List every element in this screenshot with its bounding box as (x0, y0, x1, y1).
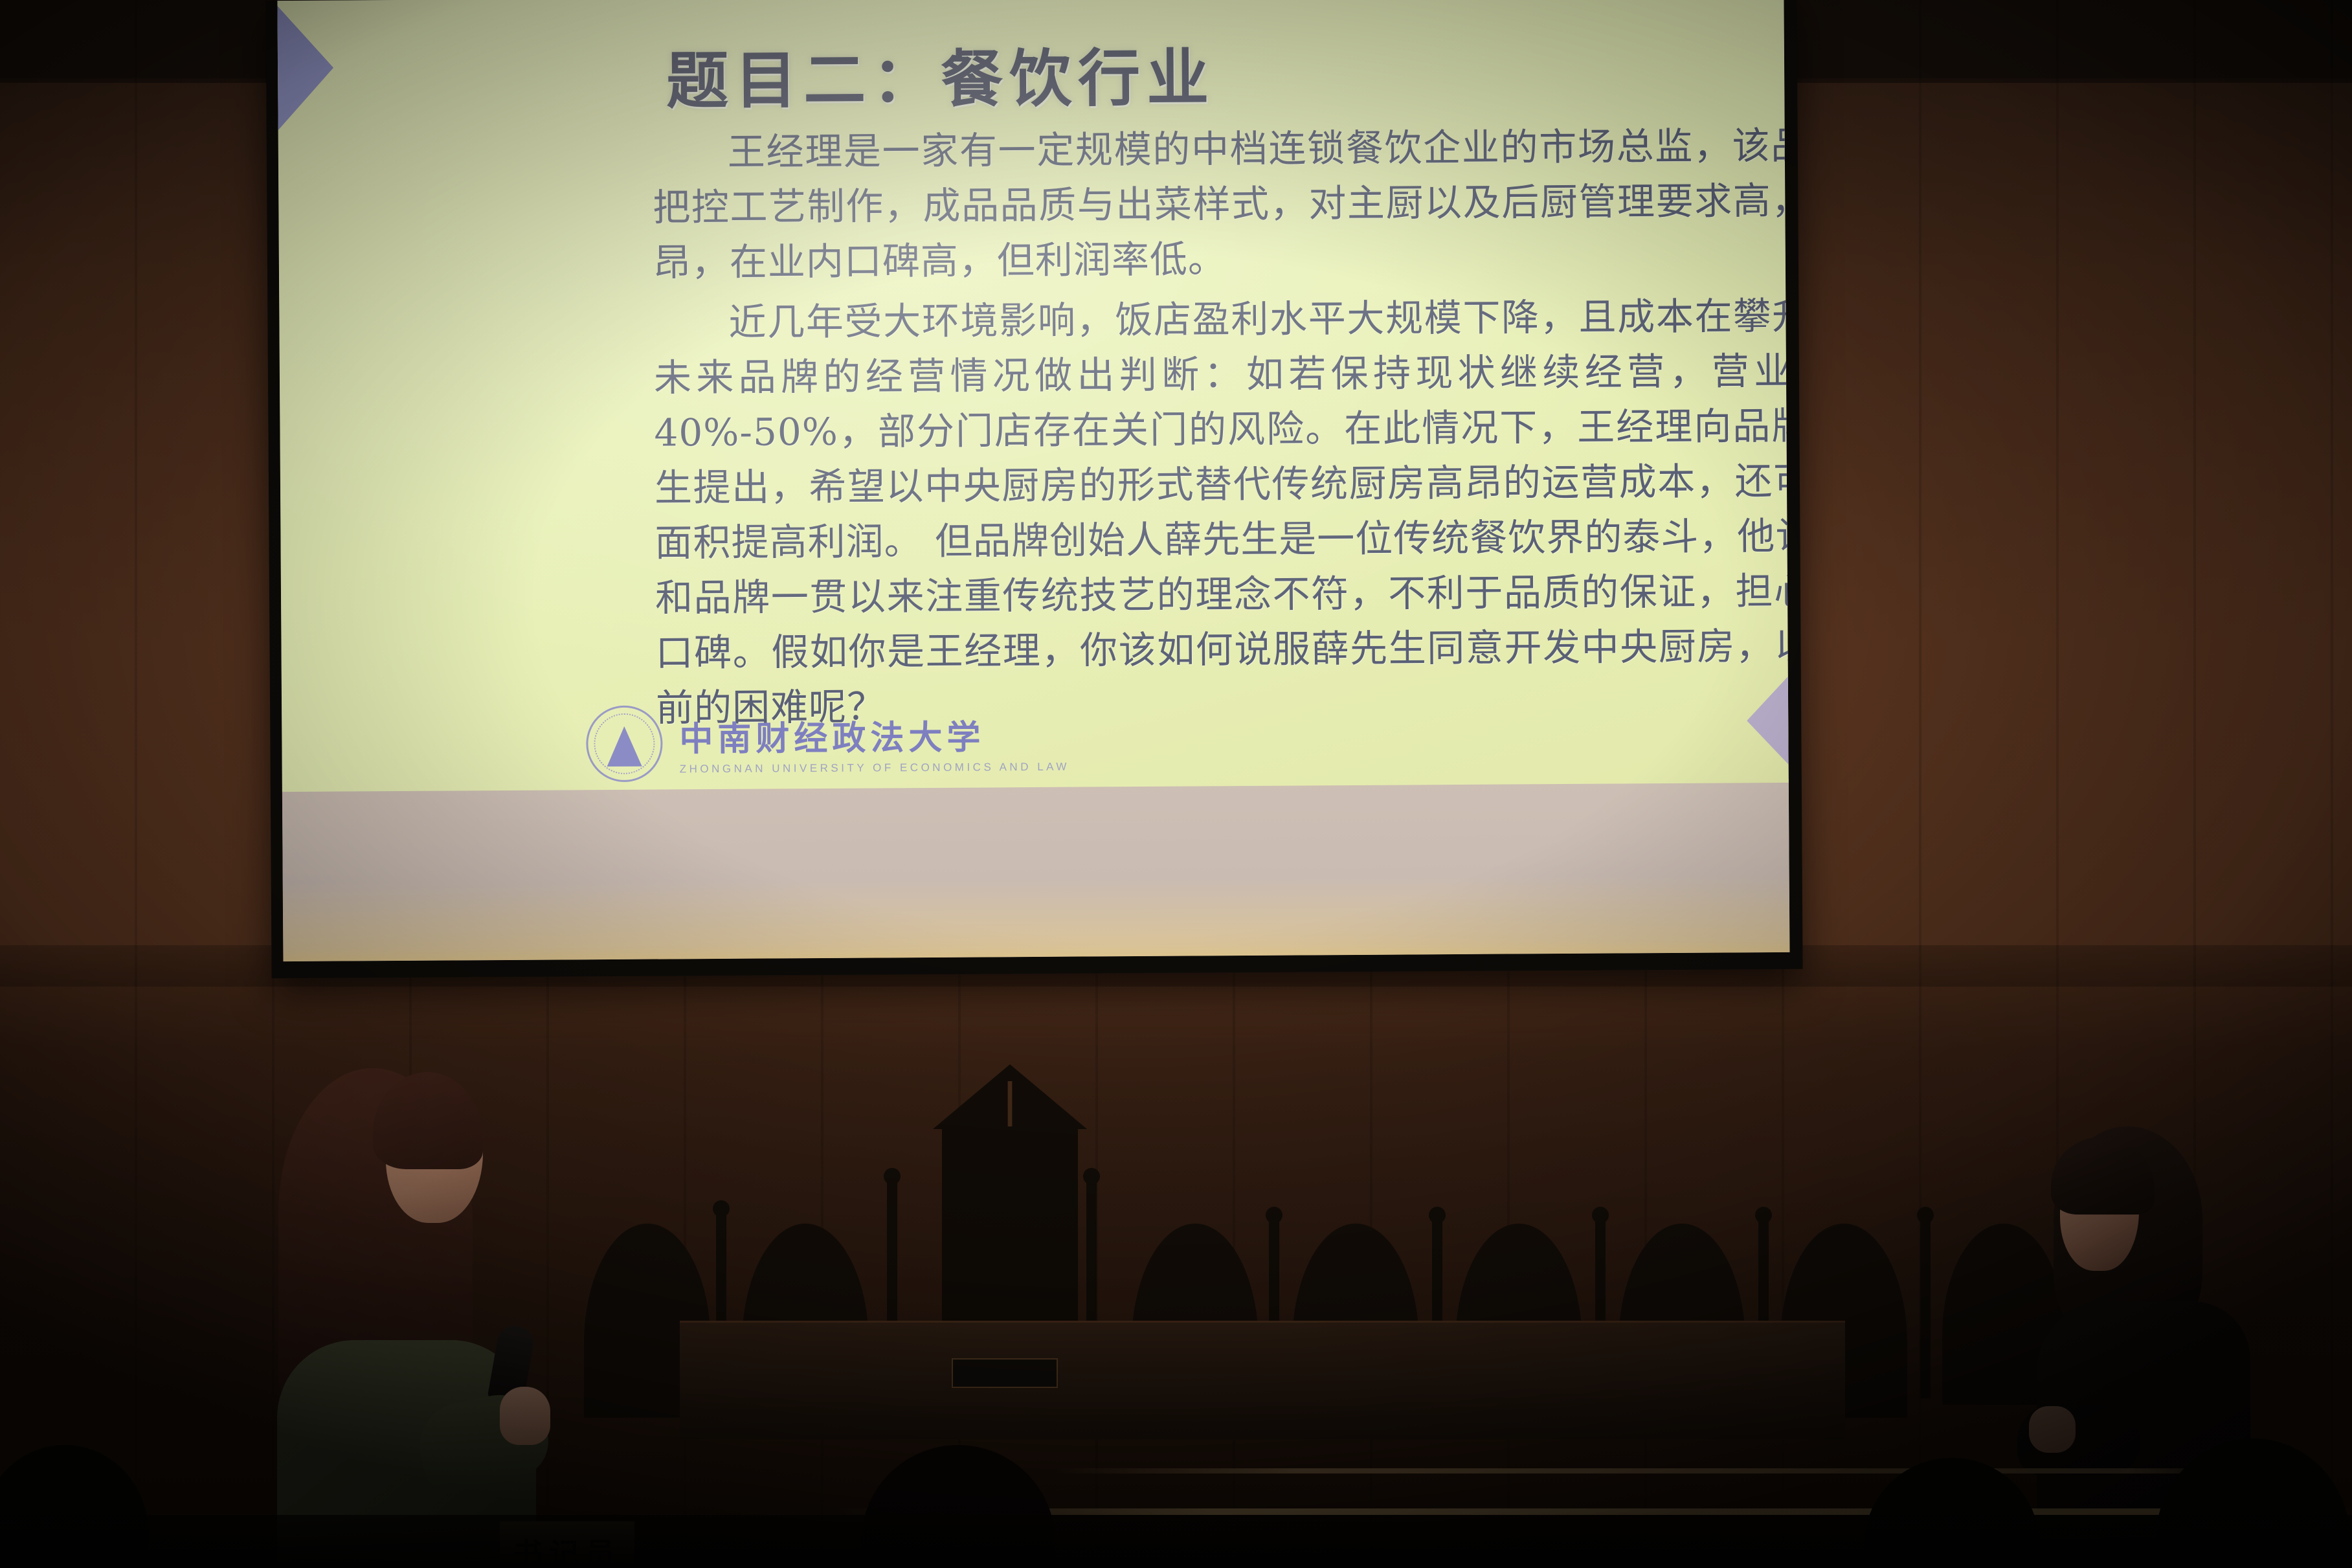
chevron-left-decoration (277, 6, 333, 131)
foreground-shadow (0, 1515, 2352, 1568)
slide-paragraph-2: 近几年受大环境影响，饭店盈利水平大规模下降，且成本在攀升。市场部对未来品牌的经营… (653, 287, 1789, 736)
university-name-cn: 中南财经政法大学 (679, 709, 1070, 760)
screenshot-root: 题目二：餐饮行业 王经理是一家有一定规模的中档连锁餐饮企业的市场总监，该品牌一直… (0, 0, 2352, 1568)
projection-screen-frame: 题目二：餐饮行业 王经理是一家有一定规模的中档连锁餐饮企业的市场总监，该品牌一直… (265, 0, 1802, 978)
bench-display-panel (952, 1358, 1058, 1388)
slide-paragraph-1: 王经理是一家有一定规模的中档连锁餐饮企业的市场总监，该品牌一直严格把控工艺制作，… (653, 117, 1790, 291)
projection-washout-area (282, 779, 1790, 961)
university-crest-icon (586, 706, 663, 783)
crest-triangle-icon (607, 726, 642, 767)
presentation-slide: 题目二：餐饮行业 王经理是一家有一定规模的中档连锁餐饮企业的市场总监，该品牌一直… (277, 0, 1788, 792)
projection-screen-surface: 题目二：餐饮行业 王经理是一家有一定规模的中档连锁餐饮企业的市场总监，该品牌一直… (277, 0, 1789, 961)
speaker-left (259, 1055, 596, 1568)
university-logo-text: 中南财经政法大学 ZHONGNAN UNIVERSITY OF ECONOMIC… (679, 709, 1070, 776)
university-logo: 中南财经政法大学 ZHONGNAN UNIVERSITY OF ECONOMIC… (586, 703, 1070, 783)
slide-body: 王经理是一家有一定规模的中档连锁餐饮企业的市场总监，该品牌一直严格把控工艺制作，… (653, 117, 1790, 741)
university-name-en: ZHONGNAN UNIVERSITY OF ECONOMICS AND LAW (680, 760, 1070, 776)
judges-bench (680, 1321, 1845, 1439)
speaker-right-hand (2029, 1406, 2076, 1453)
speaker-left-hand (500, 1387, 550, 1445)
chair-spire (1920, 1217, 1931, 1398)
slide-title: 题目二：餐饮行业 (666, 27, 1216, 120)
front-desk-rail-upper (1055, 1468, 2248, 1473)
front-desk-rail (835, 1508, 2352, 1515)
